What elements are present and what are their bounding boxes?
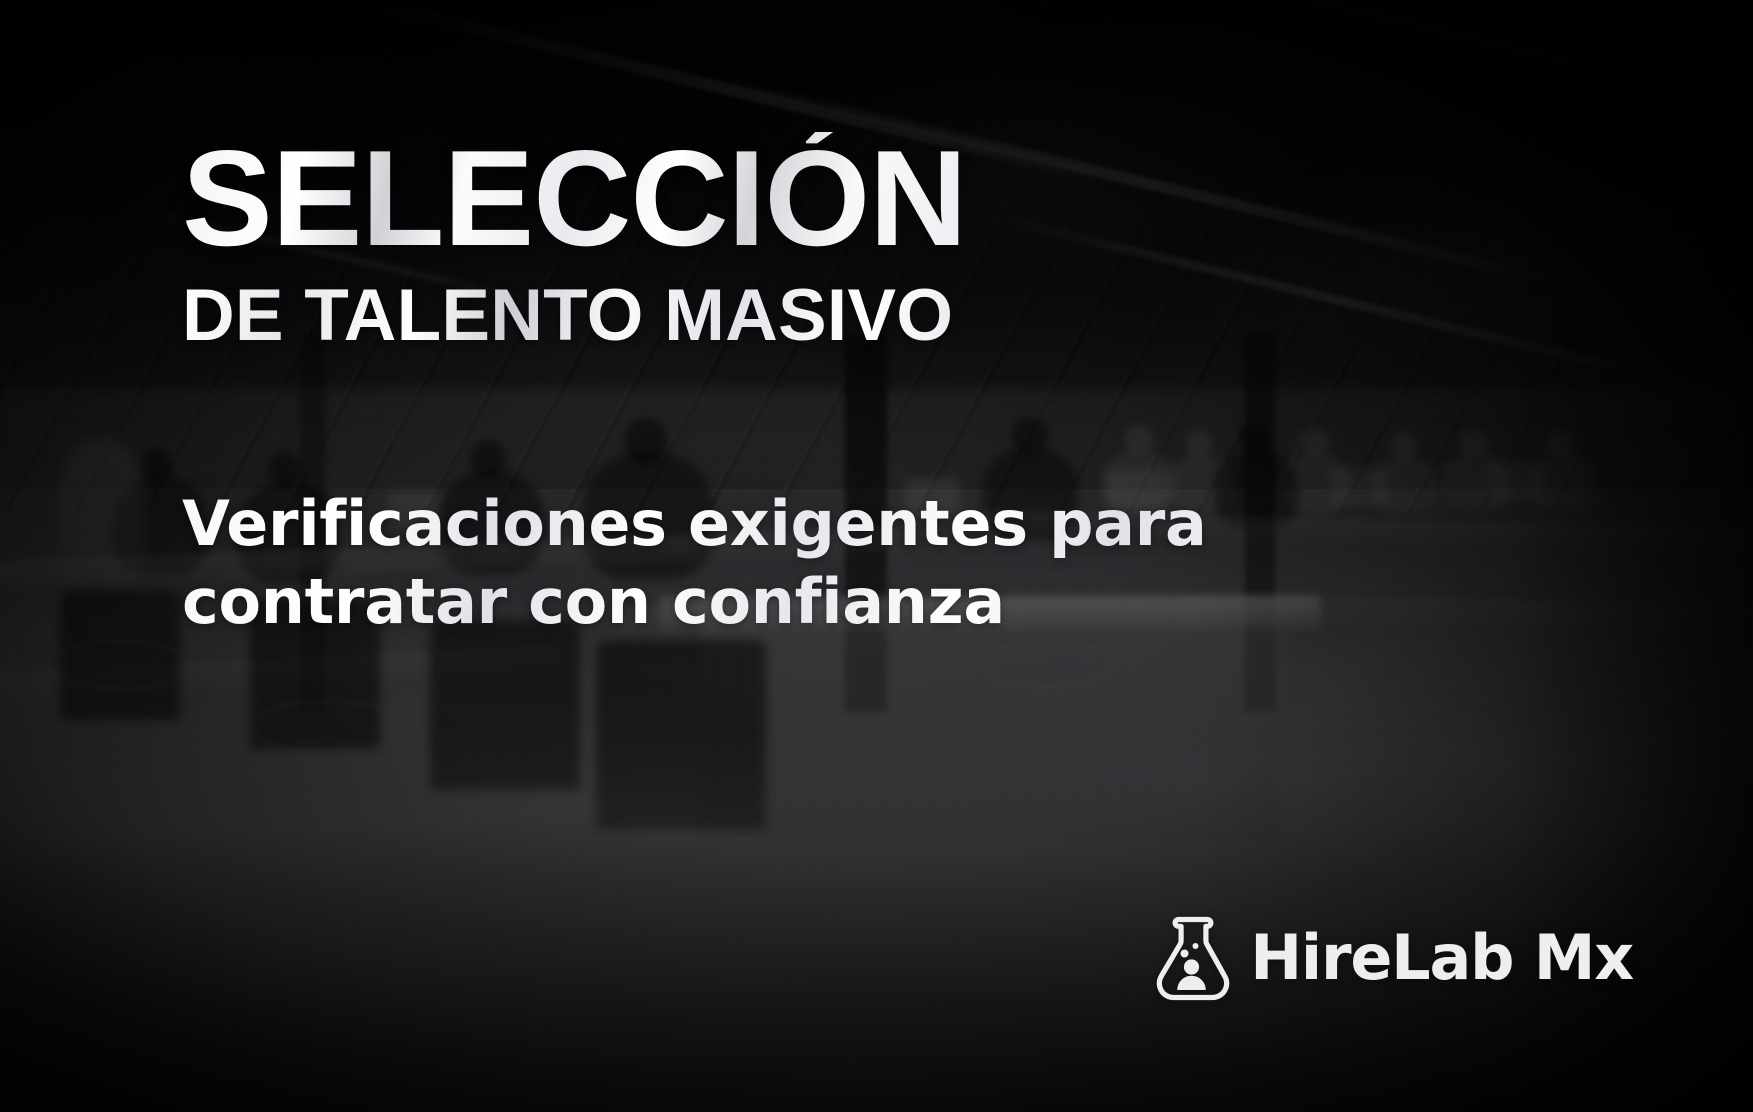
headline-title: SELECCIÓN [182, 132, 966, 265]
flask-with-person-icon [1154, 914, 1232, 1002]
body-copy-line-2: contratar con confianza [182, 563, 1242, 641]
headline-subtitle: DE TALENTO MASIVO [182, 279, 966, 352]
body-copy: Verificaciones exigentes para contratar … [182, 485, 1242, 641]
headline-block: SELECCIÓN DE TALENTO MASIVO [182, 132, 966, 352]
banner-content: SELECCIÓN DE TALENTO MASIVO Verificacion… [0, 0, 1753, 1112]
brand-wordmark: HireLab Mx [1250, 927, 1633, 989]
brand-logo: HireLab Mx [1154, 914, 1633, 1002]
body-copy-line-1: Verificaciones exigentes para [182, 485, 1242, 563]
promo-banner: SELECCIÓN DE TALENTO MASIVO Verificacion… [0, 0, 1753, 1112]
